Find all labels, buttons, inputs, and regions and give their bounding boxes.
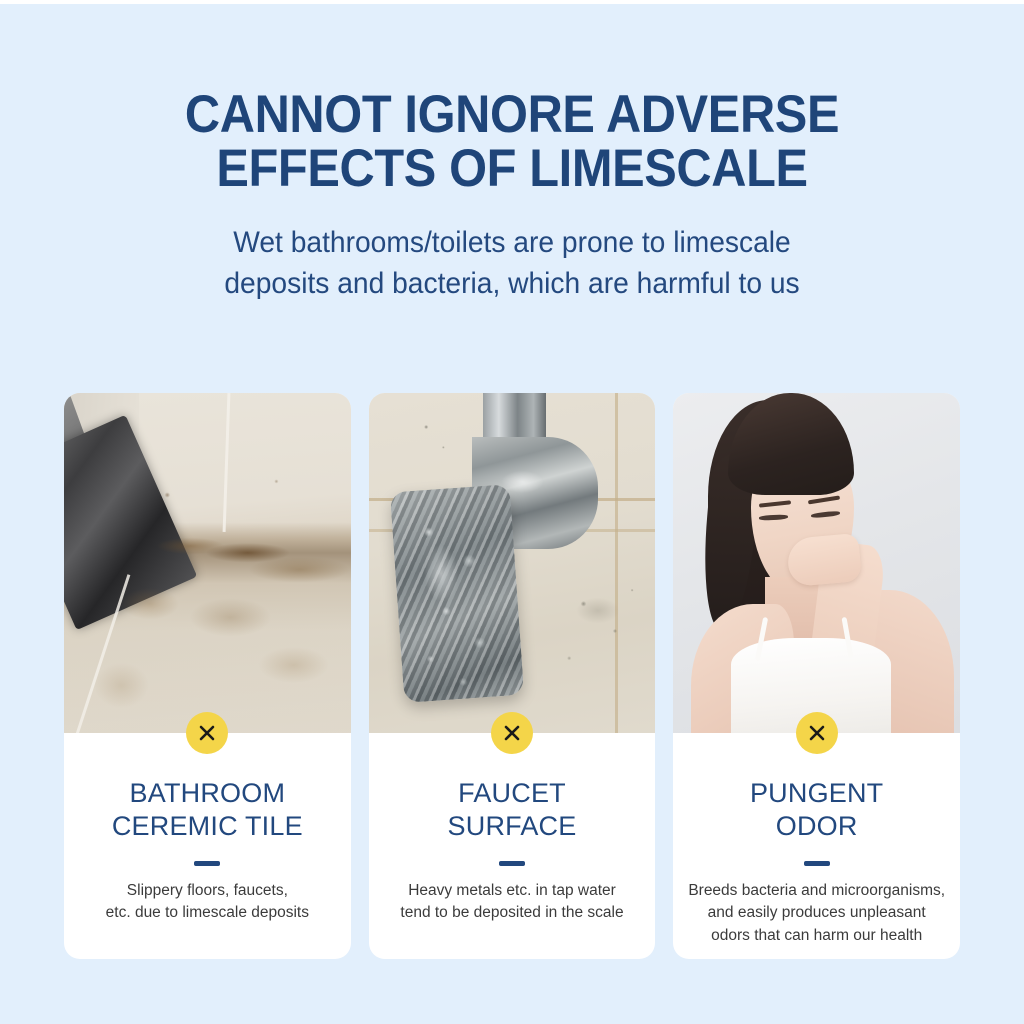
card-title: PUNGENT ODOR — [687, 777, 946, 844]
x-mark-badge — [186, 712, 228, 754]
card-desc-line-1: Breeds bacteria and microorganisms, — [688, 882, 945, 899]
poster-header: CANNOT IGNORE ADVERSE EFFECTS OF LIMESCA… — [0, 4, 1024, 305]
card-desc-line-2: and easily produces unpleasant — [708, 904, 926, 921]
card-title: FAUCET SURFACE — [383, 777, 642, 844]
headline-line-2: EFFECTS OF LIMESCALE — [41, 142, 983, 196]
x-mark-badge — [491, 712, 533, 754]
card-desc-line-3: odors that can harm our health — [711, 927, 922, 944]
woman-bad-odor-photo — [673, 393, 960, 733]
headline-line-1: CANNOT IGNORE ADVERSE — [185, 85, 839, 144]
card-body: BATHROOM CEREMIC TILE Slippery floors, f… — [64, 733, 351, 959]
card-description: Heavy metals etc. in tap water tend to b… — [383, 880, 642, 925]
card-faucet-surface[interactable]: FAUCET SURFACE Heavy metals etc. in tap … — [369, 393, 656, 959]
card-desc-line-1: Slippery floors, faucets, — [127, 882, 288, 899]
card-pungent-odor[interactable]: PUNGENT ODOR Breeds bacteria and microor… — [673, 393, 960, 959]
problem-cards-row: BATHROOM CEREMIC TILE Slippery floors, f… — [64, 393, 960, 959]
x-mark-icon — [502, 723, 522, 743]
subtitle-line-1: Wet bathrooms/toilets are prone to limes… — [233, 226, 790, 259]
limescale-crust-texture — [390, 484, 525, 703]
title-divider-dash — [499, 861, 525, 866]
limescale-faucet-photo — [369, 393, 656, 733]
limescale-infographic-poster: CANNOT IGNORE ADVERSE EFFECTS OF LIMESCA… — [0, 0, 1024, 1024]
subtitle-line-2: deposits and bacteria, which are harmful… — [31, 263, 994, 304]
page-subtitle: Wet bathrooms/toilets are prone to limes… — [31, 222, 994, 305]
card-desc-line-2: etc. due to limescale deposits — [106, 904, 309, 921]
title-divider-dash — [804, 861, 830, 866]
card-body: FAUCET SURFACE Heavy metals etc. in tap … — [369, 733, 656, 959]
card-title: BATHROOM CEREMIC TILE — [78, 777, 337, 844]
x-mark-badge — [796, 712, 838, 754]
card-title-line-2: ODOR — [776, 811, 858, 841]
card-title-line-2: SURFACE — [448, 811, 577, 841]
card-title-line-1: FAUCET — [458, 778, 566, 808]
card-title-line-1: BATHROOM — [130, 778, 286, 808]
card-description: Breeds bacteria and microorganisms, and … — [687, 880, 946, 947]
card-bathroom-ceremic-tile[interactable]: BATHROOM CEREMIC TILE Slippery floors, f… — [64, 393, 351, 959]
card-desc-line-1: Heavy metals etc. in tap water — [408, 882, 616, 899]
x-mark-icon — [807, 723, 827, 743]
card-title-line-2: CEREMIC TILE — [112, 811, 303, 841]
page-title: CANNOT IGNORE ADVERSE EFFECTS OF LIMESCA… — [41, 88, 983, 196]
card-description: Slippery floors, faucets, etc. due to li… — [78, 880, 337, 925]
card-title-line-1: PUNGENT — [750, 778, 883, 808]
title-divider-dash — [194, 861, 220, 866]
card-desc-line-2: tend to be deposited in the scale — [400, 904, 623, 921]
dirty-tile-photo — [64, 393, 351, 733]
x-mark-icon — [197, 723, 217, 743]
limescale-grime-stains — [64, 393, 351, 733]
card-body: PUNGENT ODOR Breeds bacteria and microor… — [673, 733, 960, 959]
